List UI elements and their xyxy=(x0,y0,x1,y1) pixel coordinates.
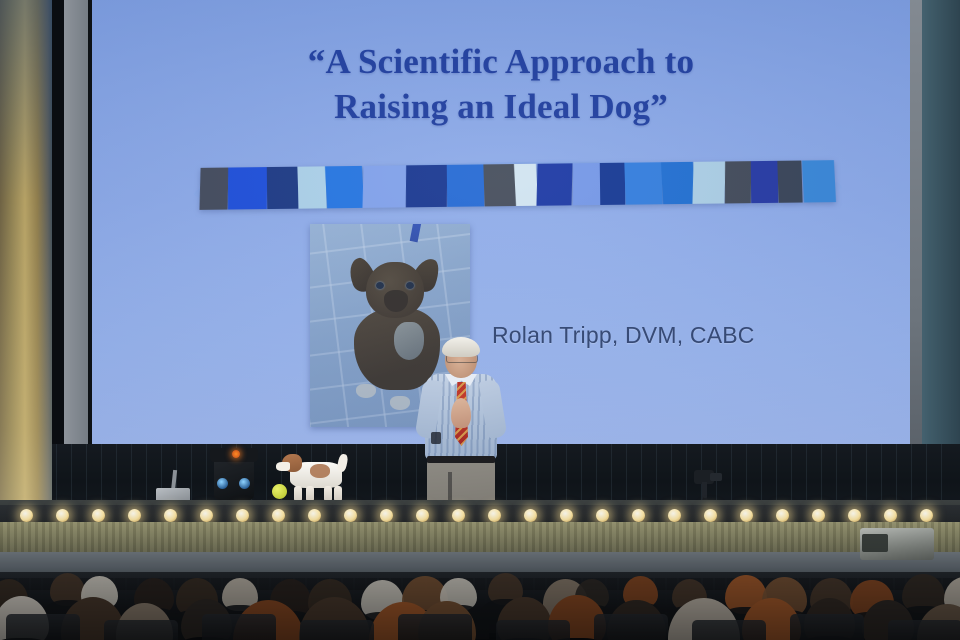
backdrop-fold xyxy=(941,444,942,506)
speaker-belt-pack xyxy=(431,432,441,444)
footlight-bulb xyxy=(776,509,789,522)
gray-wall-strip xyxy=(64,0,88,500)
stripe-block xyxy=(228,167,267,209)
backdrop-fold xyxy=(881,444,882,506)
footlight-bulb xyxy=(20,509,33,522)
audience-chair xyxy=(790,614,864,640)
stripe-block xyxy=(600,163,625,205)
backdrop-fold xyxy=(386,444,387,506)
stripe-bar-blocks xyxy=(200,160,835,210)
audience-chair xyxy=(398,614,472,640)
stripe-block xyxy=(298,166,327,208)
camera-tally-light xyxy=(232,450,240,458)
puppy-eye-right xyxy=(406,282,414,289)
footlight-bulb xyxy=(704,509,717,522)
tripod-camera-lens xyxy=(710,473,722,481)
footlight-bulb xyxy=(632,509,645,522)
speaker-hands xyxy=(451,398,471,428)
stripe-block xyxy=(199,168,228,210)
stripe-block xyxy=(624,162,662,204)
speaker-belt xyxy=(427,456,495,463)
footlight-bulb xyxy=(308,509,321,522)
backdrop-fold xyxy=(206,444,207,506)
backdrop-fold xyxy=(626,444,627,506)
footlight-bulb xyxy=(560,509,573,522)
stripe-block xyxy=(661,162,695,204)
tile-line xyxy=(310,224,470,228)
backdrop-fold xyxy=(791,444,792,506)
stripe-block xyxy=(750,161,778,203)
slide-stripe-bar xyxy=(200,164,835,206)
backdrop-fold xyxy=(896,444,897,506)
stripe-block xyxy=(267,167,299,209)
audience-chair xyxy=(692,620,766,640)
speaker-hair xyxy=(442,337,480,357)
footlight-bulb xyxy=(380,509,393,522)
toy-dog-tail xyxy=(336,453,349,472)
backdrop-fold xyxy=(101,444,102,506)
toy-dog-patch xyxy=(310,464,330,478)
footlight-bulb xyxy=(488,509,501,522)
footlight-bulb xyxy=(812,509,825,522)
stripe-block xyxy=(537,163,573,205)
audience-chair xyxy=(202,614,276,640)
audience xyxy=(0,528,960,640)
backdrop-fold xyxy=(521,444,522,506)
backdrop-fold xyxy=(401,444,402,506)
stripe-block xyxy=(446,164,484,206)
footlight-bulb xyxy=(848,509,861,522)
backdrop-fold xyxy=(566,444,567,506)
backdrop-fold xyxy=(761,444,762,506)
column-gap-shadow xyxy=(52,0,64,500)
footlight-bulb xyxy=(272,509,285,522)
stripe-block xyxy=(572,163,600,205)
backdrop-fold xyxy=(671,444,672,506)
footlight-bulb xyxy=(344,509,357,522)
backdrop-fold xyxy=(596,444,597,506)
backdrop-fold xyxy=(851,444,852,506)
backdrop-fold xyxy=(611,444,612,506)
backdrop-fold xyxy=(551,444,552,506)
footlight-bulb xyxy=(740,509,753,522)
backdrop-fold xyxy=(866,444,867,506)
footlight-bulb xyxy=(92,509,105,522)
backdrop-fold xyxy=(806,444,807,506)
puppy-paw-left xyxy=(356,384,376,398)
backdrop-fold xyxy=(371,444,372,506)
backdrop-fold xyxy=(821,444,822,506)
backdrop-fold xyxy=(776,444,777,506)
gold-column xyxy=(0,0,52,524)
backdrop-fold xyxy=(836,444,837,506)
backdrop-fold xyxy=(581,444,582,506)
backdrop-fold xyxy=(656,444,657,506)
footlight-bulb xyxy=(884,509,897,522)
backdrop-fold xyxy=(71,444,72,506)
footlight-bulb xyxy=(200,509,213,522)
slide-title-line-2: Raising an Ideal Dog” xyxy=(92,85,910,130)
stripe-block xyxy=(725,161,751,203)
camera-lens-left xyxy=(217,478,228,489)
toy-dog-snout xyxy=(276,462,290,471)
slide-presenter-name: Rolan Tripp, DVM, CABC xyxy=(492,322,910,349)
backdrop-fold xyxy=(746,444,747,506)
backdrop-fold xyxy=(641,444,642,506)
footlight-bulb xyxy=(668,509,681,522)
stripe-block xyxy=(778,161,803,203)
backdrop-fold xyxy=(911,444,912,506)
backdrop-fold xyxy=(131,444,132,506)
footlight-bulb xyxy=(596,509,609,522)
backdrop-fold xyxy=(266,444,267,506)
backdrop-fold xyxy=(116,444,117,506)
backdrop-fold xyxy=(146,444,147,506)
audience-chair xyxy=(300,620,374,640)
footlight-bulb xyxy=(452,509,465,522)
stripe-block xyxy=(514,164,538,206)
backdrop-fold xyxy=(86,444,87,506)
stripe-block xyxy=(693,161,726,203)
footlight-bulb xyxy=(920,509,933,522)
slide-title: “A Scientific Approach to Raising an Ide… xyxy=(92,40,910,130)
audience-chair xyxy=(594,614,668,640)
footlight-bulb xyxy=(236,509,249,522)
puppy-paw-right xyxy=(390,396,410,410)
footlight-bulb xyxy=(416,509,429,522)
footlight-bulb xyxy=(56,509,69,522)
conference-stage-photo: “A Scientific Approach to Raising an Ide… xyxy=(0,0,960,640)
stripe-block xyxy=(483,164,516,206)
footlight-bulb xyxy=(128,509,141,522)
audience-chair xyxy=(496,620,570,640)
backdrop-fold xyxy=(191,444,192,506)
puppy-eye-left xyxy=(376,282,384,289)
camera-lens-group xyxy=(217,478,251,490)
stripe-block xyxy=(801,160,836,202)
audience-chair xyxy=(6,614,80,640)
backdrop-fold xyxy=(536,444,537,506)
footlight-bulb xyxy=(524,509,537,522)
slide-title-line-1: “A Scientific Approach to xyxy=(92,40,910,85)
stripe-block xyxy=(406,165,447,208)
backdrop-fold xyxy=(926,444,927,506)
camera-lens-right xyxy=(239,478,250,489)
stripe-block xyxy=(325,166,364,208)
tennis-ball xyxy=(272,484,287,499)
footlight-bulb xyxy=(164,509,177,522)
stripe-block xyxy=(363,165,407,208)
audience-chair xyxy=(888,620,960,640)
audience-chair xyxy=(104,620,178,640)
backdrop-fold xyxy=(56,444,57,506)
